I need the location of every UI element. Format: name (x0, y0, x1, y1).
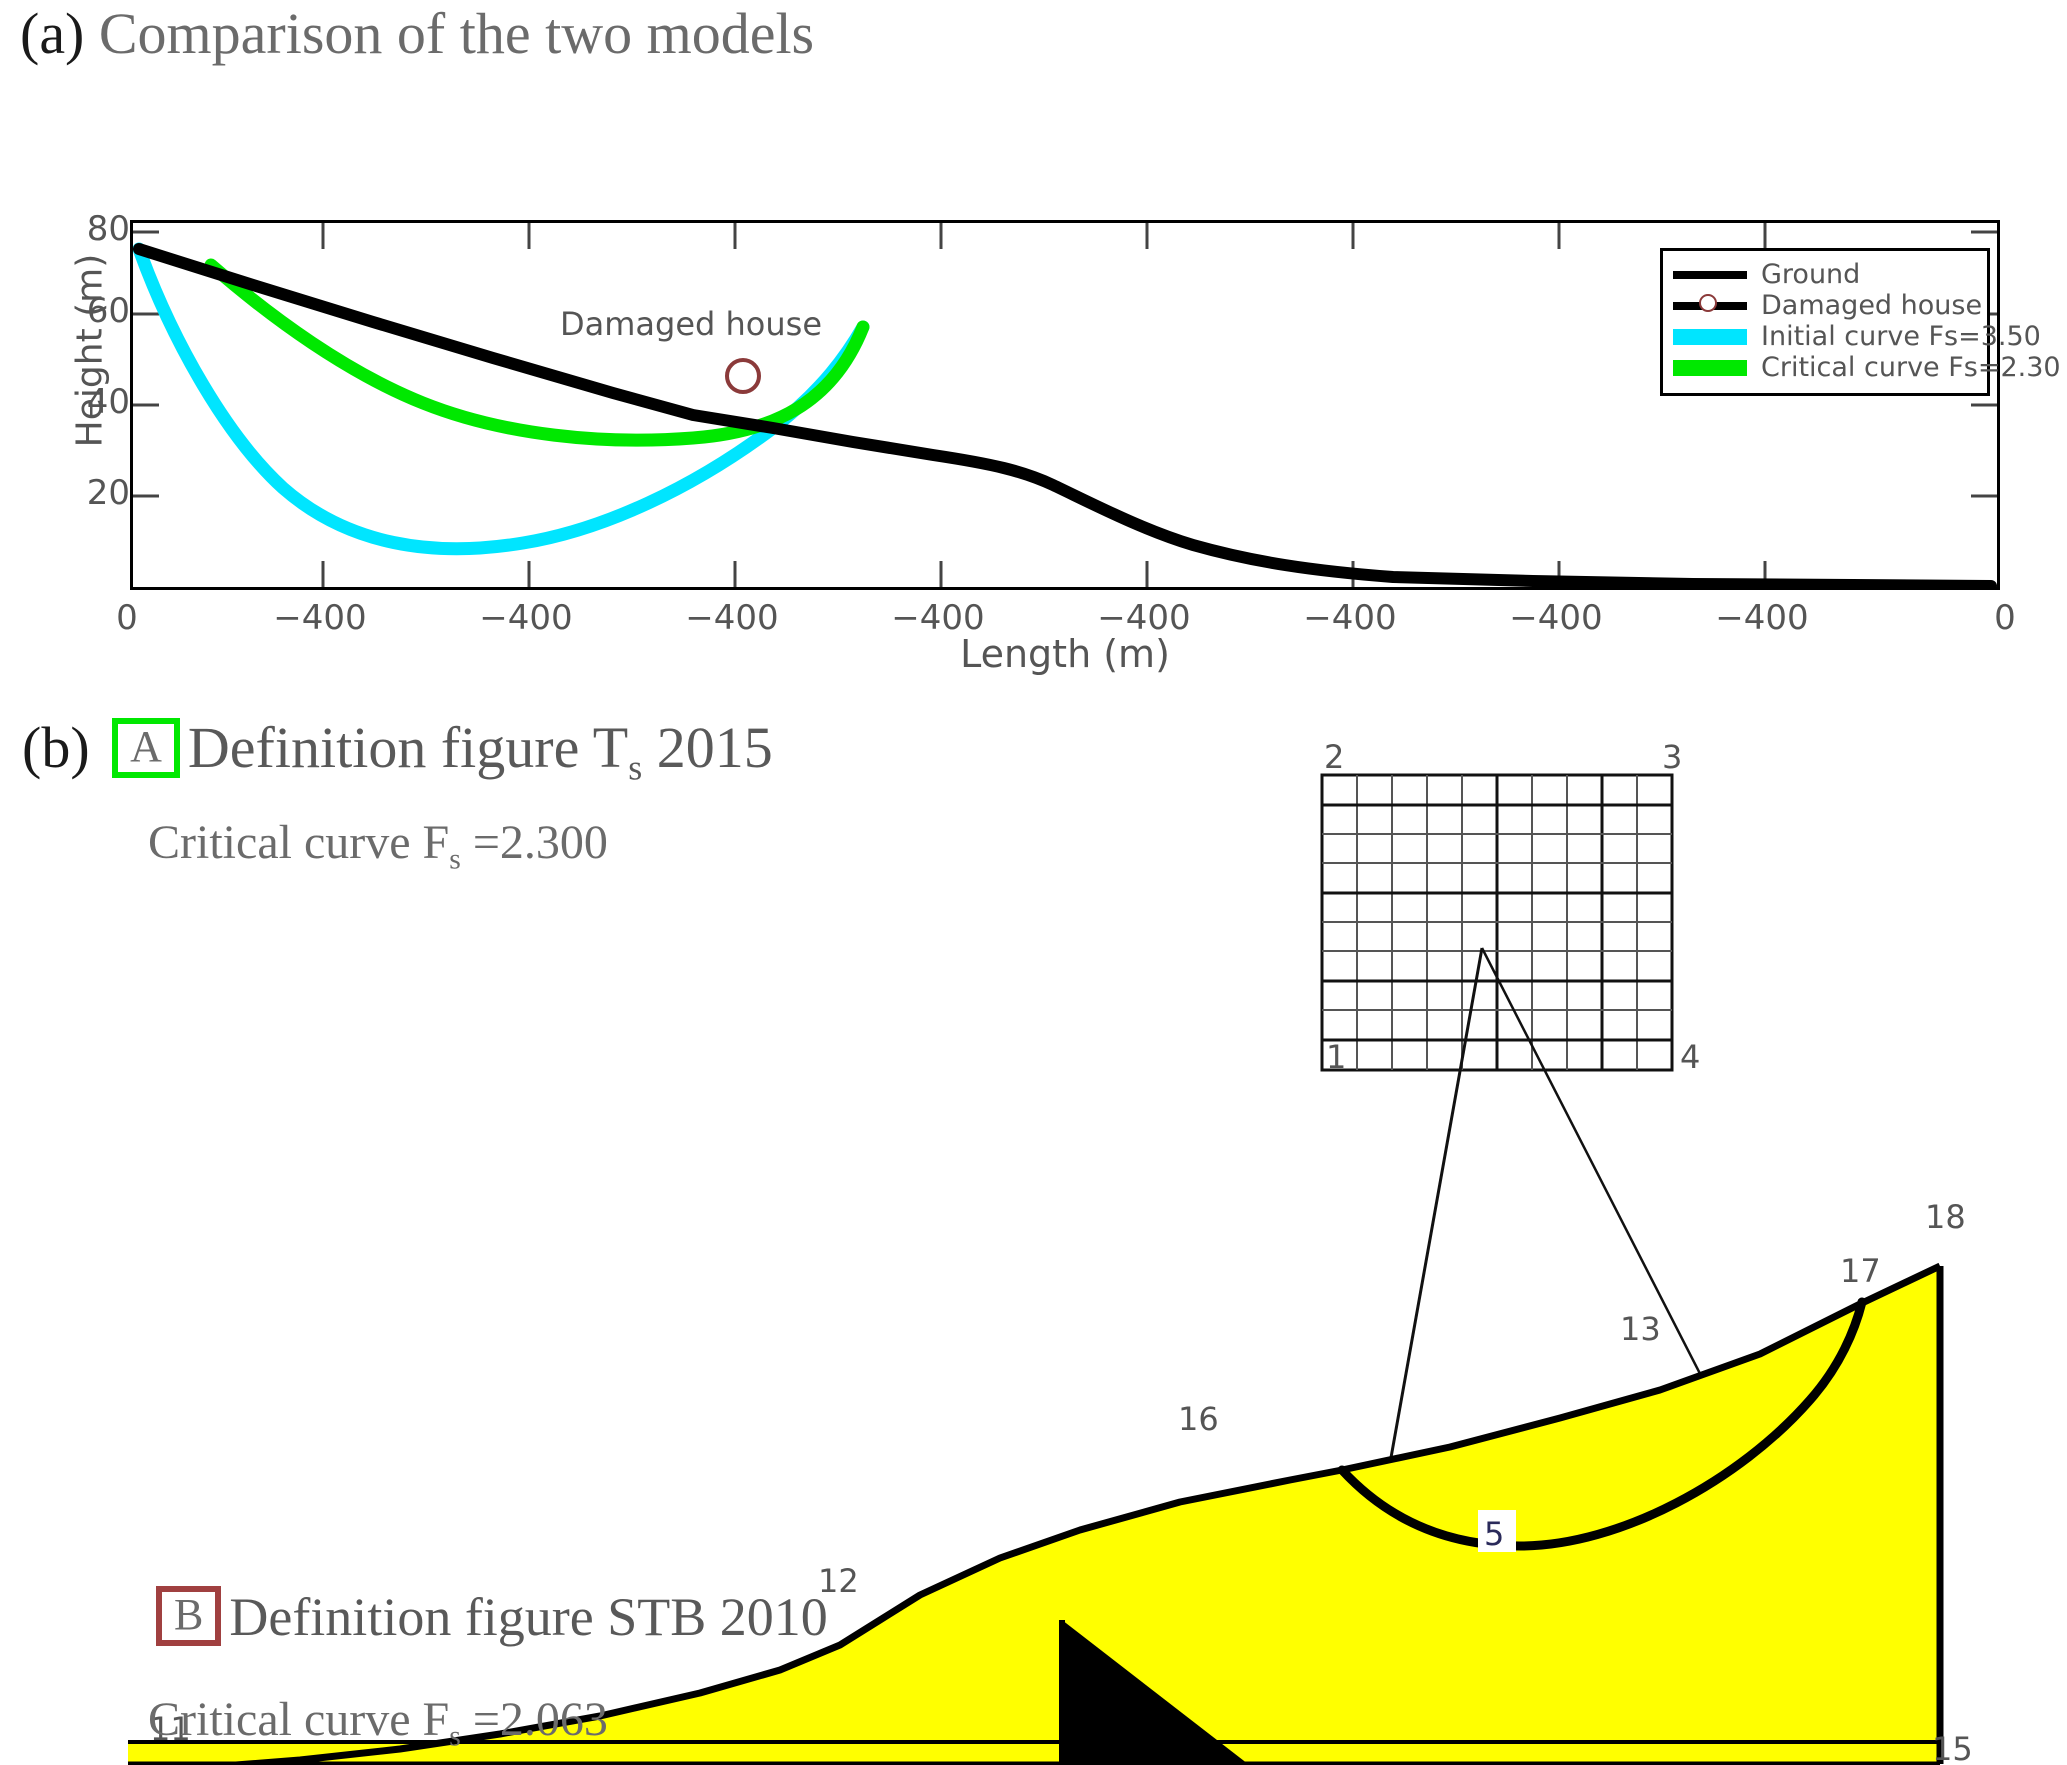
panel-a-title-text: Comparison of the two models (99, 1, 814, 66)
damaged-house-annotation: Damaged house (560, 305, 822, 343)
x-tick-marks (323, 223, 1765, 587)
soil-body (128, 1266, 1940, 1765)
legend-swatch-critical-curve (1673, 360, 1747, 376)
model-b-fs-subscript: s (449, 1719, 461, 1752)
inset-corner-label-3: 3 (1662, 738, 1682, 776)
legend-label-initial-curve: Initial curve Fs=3.50 (1761, 321, 2041, 352)
model-b-fs-value: =2.063 (461, 1693, 608, 1746)
inset-corner-label-1: 1 (1326, 1038, 1346, 1076)
legend-swatch-damaged-house (1673, 302, 1747, 310)
node-label-18: 18 (1925, 1198, 1966, 1236)
panel-a-tag: (a) (20, 1, 84, 66)
panel-a-title: (a) Comparison of the two models (20, 5, 814, 63)
legend: Ground Damaged house Initial curve Fs=3.… (1660, 248, 1990, 396)
node-label-16: 16 (1178, 1400, 1219, 1438)
circle-marker-icon (1699, 294, 1717, 312)
inset-corner-label-4: 4 (1680, 1038, 1700, 1076)
model-b-title-row: BDefinition figure STB 2010 (148, 1586, 828, 1646)
node-label-5: 5 (1484, 1515, 1504, 1553)
legend-label-ground: Ground (1761, 259, 1860, 290)
legend-label-critical-curve: Critical curve Fs=2.30 (1761, 352, 2061, 383)
y-tick-label-40: 40 (40, 382, 130, 422)
legend-swatch-initial-curve (1673, 329, 1747, 345)
damaged-house-marker (727, 360, 759, 392)
model-b-fs-prefix: Critical curve F (148, 1693, 449, 1746)
legend-item-critical-curve: Critical curve Fs=2.30 (1673, 352, 1977, 383)
legend-item-ground: Ground (1673, 259, 1977, 290)
legend-item-initial-curve: Initial curve Fs=3.50 (1673, 321, 1977, 352)
model-b-fs: Critical curve Fs =2.063 (148, 1692, 608, 1753)
grid-inset (1322, 775, 1672, 1070)
y-tick-label-60: 60 (40, 291, 130, 331)
y-axis-title: Height (m) (70, 221, 111, 481)
series-critical-curve (211, 265, 863, 440)
x-axis-title: Length (m) (130, 632, 2000, 676)
node-label-15: 15 (1932, 1730, 1973, 1765)
legend-label-damaged-house: Damaged house (1761, 290, 1982, 321)
model-b-title: Definition figure STB 2010 (229, 1587, 827, 1647)
y-tick-label-80: 80 (40, 209, 130, 249)
y-tick-label-20: 20 (40, 473, 130, 513)
badge-b: B (156, 1586, 221, 1646)
legend-swatch-ground (1673, 271, 1747, 279)
node-label-13: 13 (1620, 1310, 1661, 1348)
inset-corner-label-2: 2 (1324, 738, 1344, 776)
node-label-17: 17 (1840, 1252, 1881, 1290)
legend-item-damaged-house: Damaged house (1673, 290, 1977, 321)
